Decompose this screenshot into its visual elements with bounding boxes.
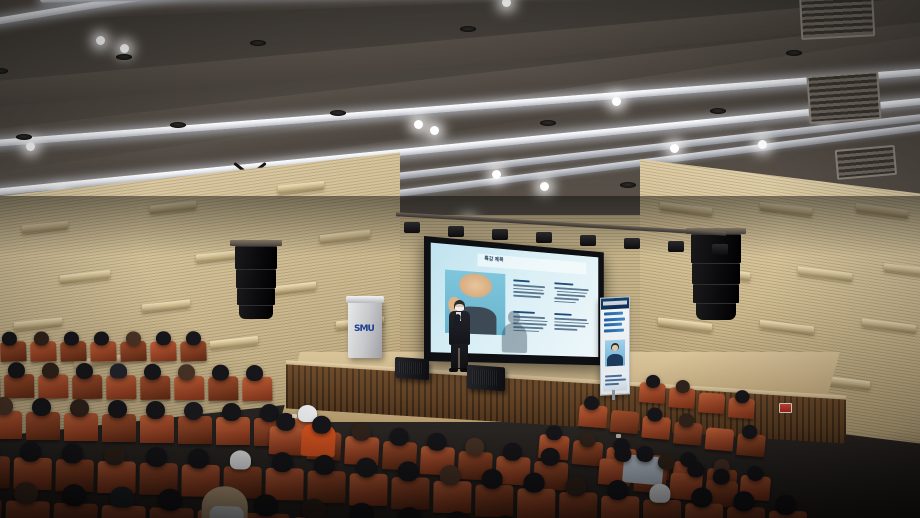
stage-light bbox=[580, 235, 596, 246]
stage-light bbox=[492, 229, 508, 240]
audience-seating bbox=[0, 330, 920, 518]
slide-title: 특강 제목 bbox=[484, 255, 503, 263]
hvac-vent bbox=[806, 71, 881, 124]
stage-light bbox=[712, 244, 728, 255]
banner-header bbox=[601, 297, 629, 309]
aisle-light bbox=[292, 414, 297, 418]
stage-light bbox=[536, 232, 552, 243]
stage-light bbox=[448, 226, 464, 237]
hvac-vent bbox=[799, 0, 876, 40]
line-array-speaker-left bbox=[234, 240, 278, 318]
stage-light bbox=[668, 241, 684, 252]
white-cap bbox=[230, 450, 251, 469]
stage-light bbox=[404, 222, 420, 233]
hvac-vent bbox=[835, 145, 897, 180]
white-cap bbox=[649, 484, 670, 503]
stage-light bbox=[624, 238, 640, 249]
line-array-speaker-right bbox=[690, 228, 742, 320]
auditorium-photo: 특강 제목 bbox=[0, 0, 920, 518]
slide-text-block bbox=[554, 282, 589, 306]
slide-text-block bbox=[513, 279, 546, 300]
aisle-light bbox=[616, 434, 621, 438]
